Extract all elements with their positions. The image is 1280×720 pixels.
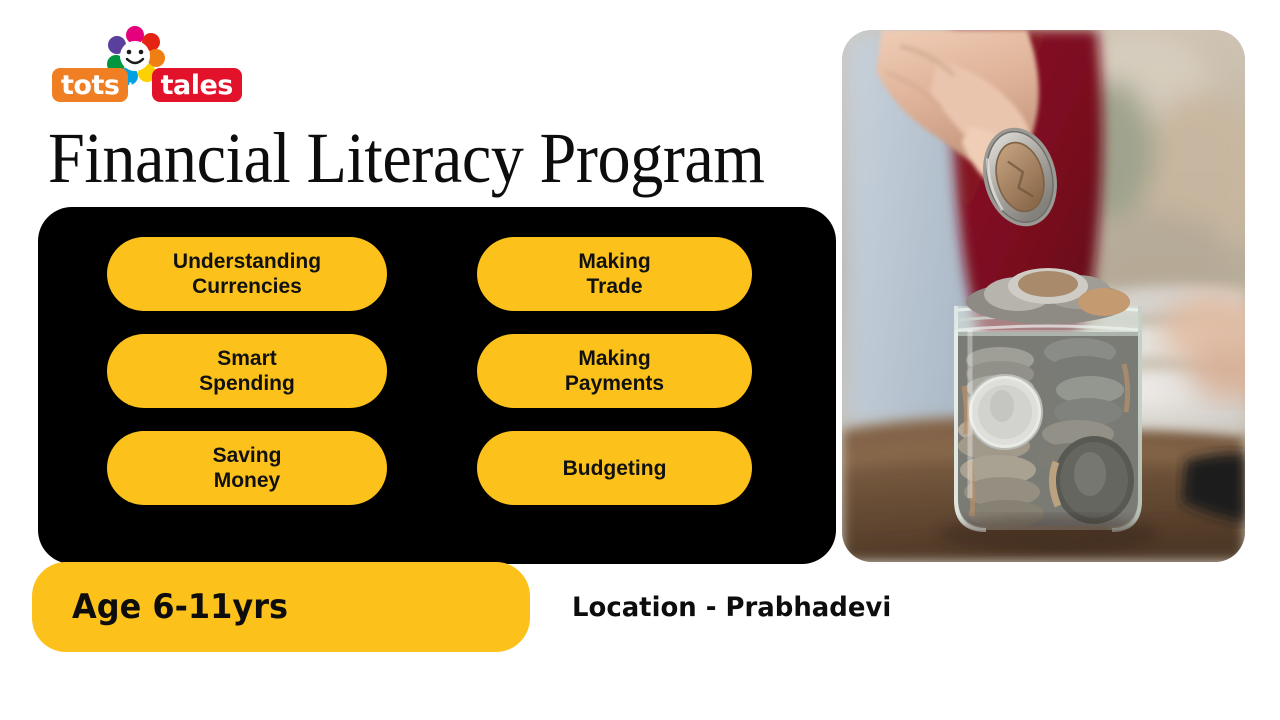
brand-wordmark: tots 'n' tales [52, 66, 242, 104]
brand-word-n: 'n' [125, 79, 154, 104]
topics-panel: Understanding Currencies Making Trade Sm… [38, 207, 836, 564]
poster-canvas: tots 'n' tales Financial Literacy Progra… [0, 0, 1280, 720]
brand-logo[interactable]: tots 'n' tales [52, 26, 232, 104]
topics-grid: Understanding Currencies Making Trade Sm… [107, 237, 807, 505]
brand-word-tots: tots [52, 68, 128, 102]
topic-pill[interactable]: Saving Money [107, 431, 387, 505]
brand-word-tales: tales [152, 68, 242, 102]
topic-pill[interactable]: Making Trade [477, 237, 752, 311]
hand-dropping-coin-into-jar-photo [842, 30, 1245, 562]
topic-pill[interactable]: Making Payments [477, 334, 752, 408]
topic-pill[interactable]: Smart Spending [107, 334, 387, 408]
age-banner: Age 6-11yrs [32, 562, 530, 652]
topic-pill[interactable]: Understanding Currencies [107, 237, 387, 311]
page-title: Financial Literacy Program [48, 118, 764, 198]
topic-pill[interactable]: Budgeting [477, 431, 752, 505]
age-label: Age 6-11yrs [72, 587, 288, 627]
location-label: Location - Prabhadevi [572, 592, 891, 623]
